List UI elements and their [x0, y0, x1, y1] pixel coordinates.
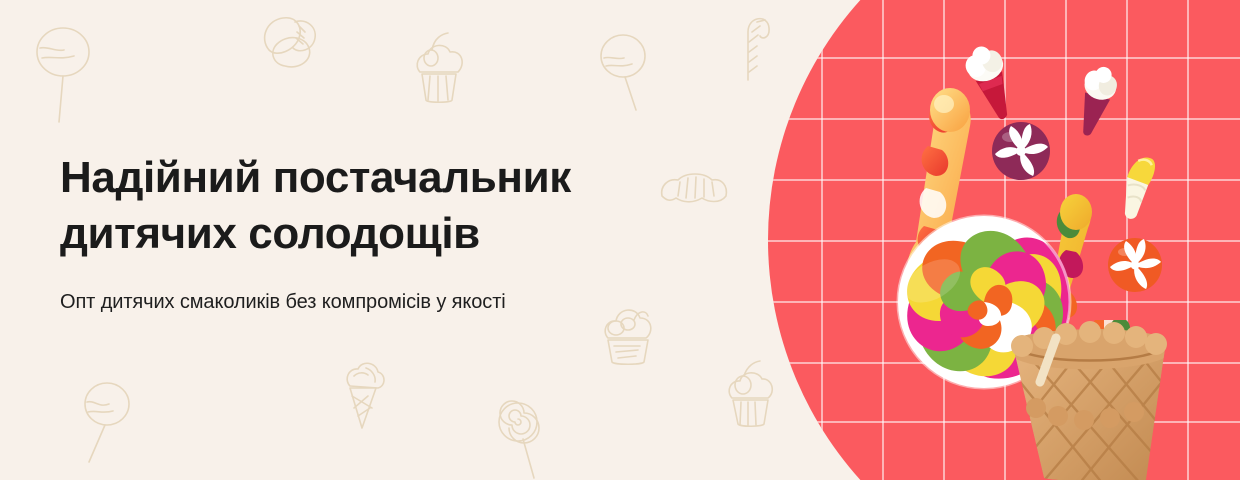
lollipop-swirl-icon	[498, 400, 544, 480]
red-circle-panel	[768, 0, 1240, 480]
hero-subtitle: Опт дитячих смаколиків без компромісів у…	[60, 288, 720, 316]
lollipop-round-icon	[30, 22, 96, 126]
lollipop-round-icon	[75, 380, 131, 466]
grid-overlay	[768, 0, 1240, 480]
hero-text-block: Надійний постачальник дитячих солодощів …	[60, 150, 720, 316]
candy-knot-icon	[255, 6, 325, 78]
lollipop-round-icon	[598, 32, 650, 114]
hero-banner: Надійний постачальник дитячих солодощів …	[0, 0, 1240, 480]
red-circle-panel-clip	[768, 0, 1240, 480]
ice-cream-cone-icon	[340, 358, 388, 434]
headline-line-2: дитячих солодощів	[60, 206, 720, 262]
headline-line-1: Надійний постачальник	[60, 150, 720, 206]
cupcake-cherry-icon	[408, 28, 470, 106]
page-title: Надійний постачальник дитячих солодощів	[60, 150, 720, 262]
